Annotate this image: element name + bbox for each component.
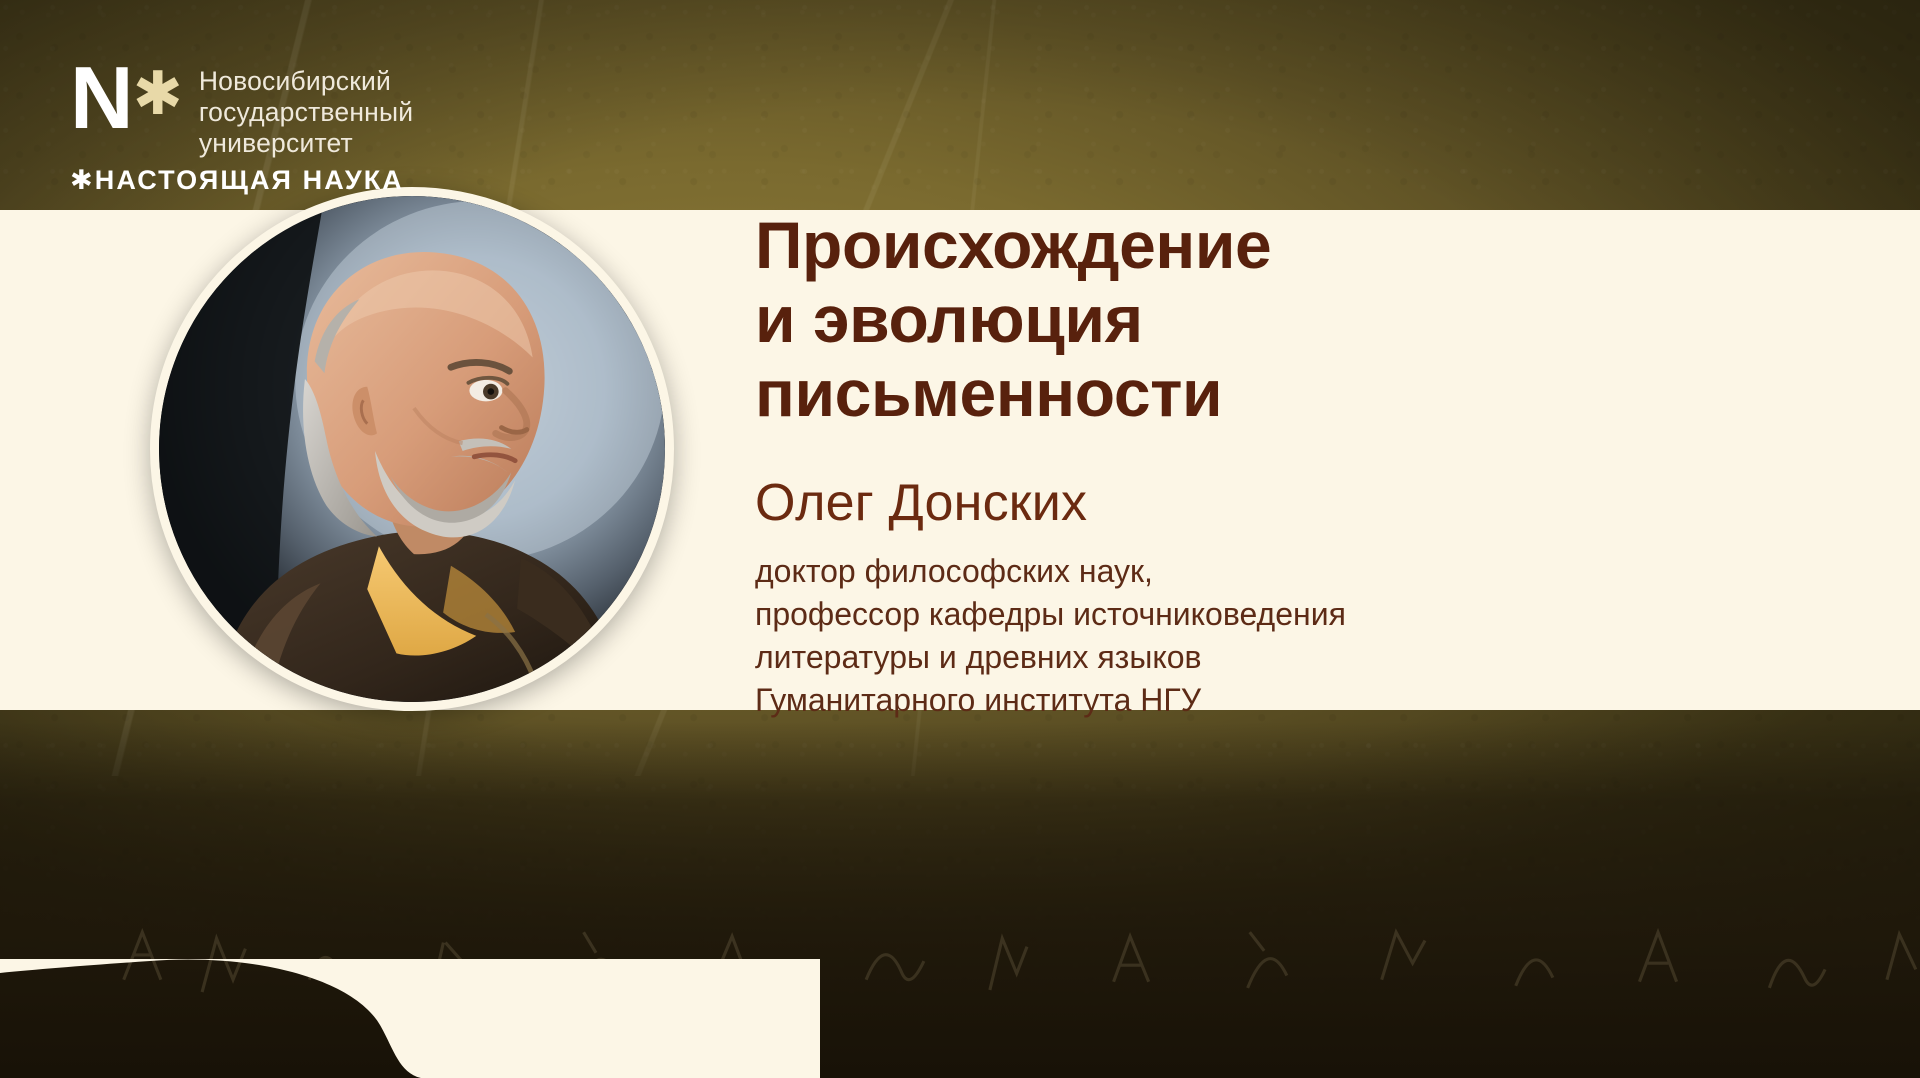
- logo-asterisk-icon: ✱: [133, 64, 183, 124]
- logo-letter-n-icon: N: [70, 62, 131, 134]
- speaker-role: доктор философских наук, профессор кафед…: [755, 550, 1785, 722]
- speaker-portrait: [150, 187, 674, 711]
- portrait-illustration-icon: [159, 196, 665, 702]
- logo-university-name: Новосибирский государственный университе…: [199, 62, 413, 159]
- logo-mark: N ✱: [70, 62, 183, 134]
- talk-title: Происхождение и эволюция письменности: [755, 205, 1785, 431]
- logo-tagline: ✱НАСТОЯЩАЯ НАУКА: [70, 165, 413, 196]
- background-bottom-band: [0, 722, 1920, 1078]
- lecture-title-slide: N ✱ Новосибирский государственный универ…: [0, 0, 1920, 1078]
- talk-info-block: Происхождение и эволюция письменности Ол…: [755, 205, 1785, 721]
- nsu-logo[interactable]: N ✱ Новосибирский государственный универ…: [70, 62, 413, 196]
- speaker-portrait-image: [159, 196, 665, 702]
- speaker-name: Олег Донских: [755, 475, 1785, 532]
- logo-top-row: N ✱ Новосибирский государственный универ…: [70, 62, 413, 159]
